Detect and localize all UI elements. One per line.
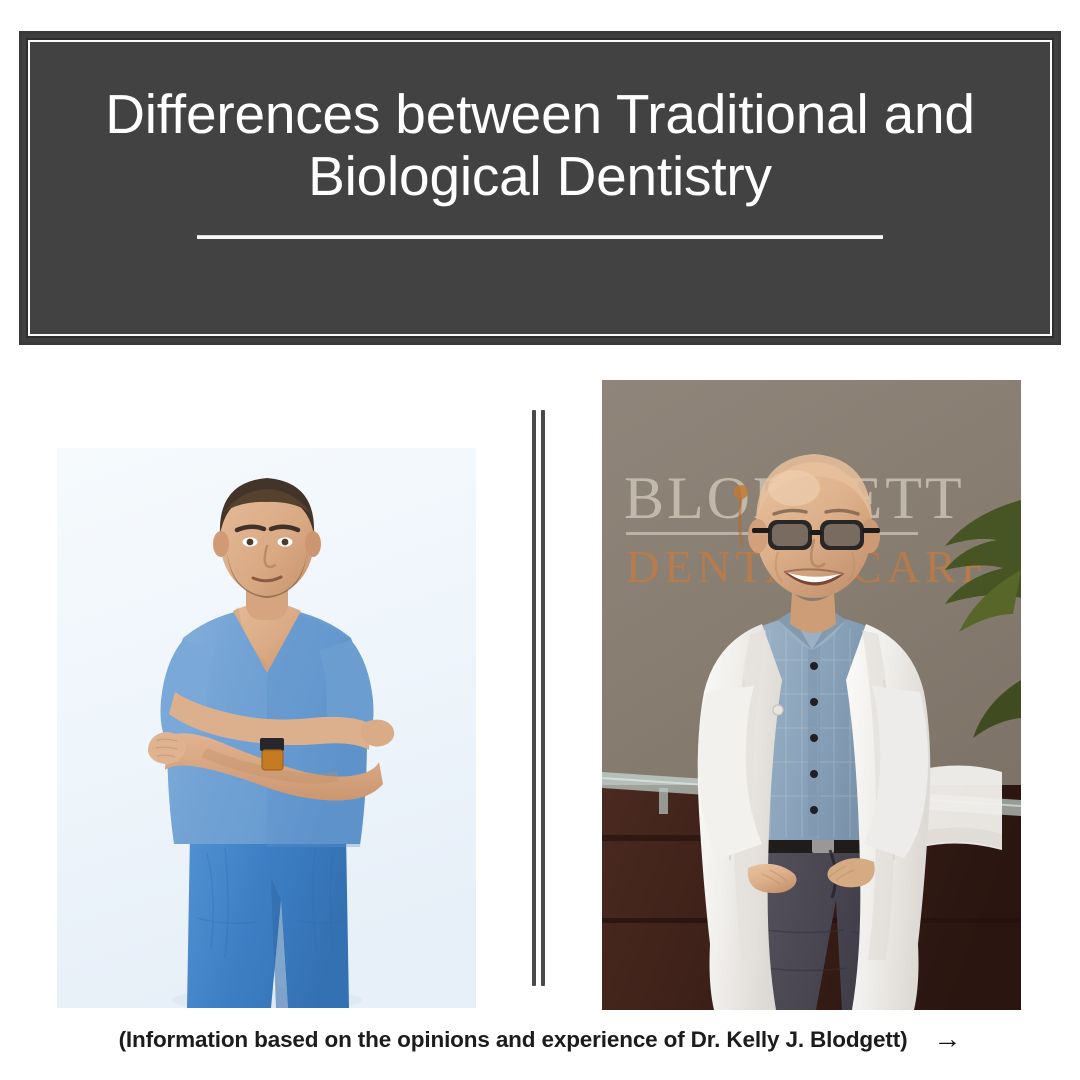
divider-bar-left [532,410,536,986]
title-underline-rule [197,235,883,239]
caption-text: (Information based on the opinions and e… [119,1027,908,1053]
page-title-line-1: Differences between Traditional and [100,84,980,146]
left-photo-traditional-dentist [57,448,476,1008]
divider-bar-right [541,410,545,986]
arrow-right-icon[interactable]: → [933,1025,961,1053]
caption-row: (Information based on the opinions and e… [0,1026,1080,1054]
right-photo-dr-blodgett: BLODGETT DENTAL CARE [602,380,1021,1010]
left-photo-illustration [57,448,476,1008]
page-title-line-2: Biological Dentistry [100,146,980,208]
title-banner: Differences between Traditional and Biol… [19,31,1061,345]
title-banner-inner: Differences between Traditional and Biol… [26,38,1054,338]
vertical-divider [531,410,547,986]
slide-canvas: Differences between Traditional and Biol… [0,0,1080,1080]
page-title: Differences between Traditional and Biol… [100,84,980,207]
right-photo-illustration: BLODGETT DENTAL CARE [602,380,1021,1010]
